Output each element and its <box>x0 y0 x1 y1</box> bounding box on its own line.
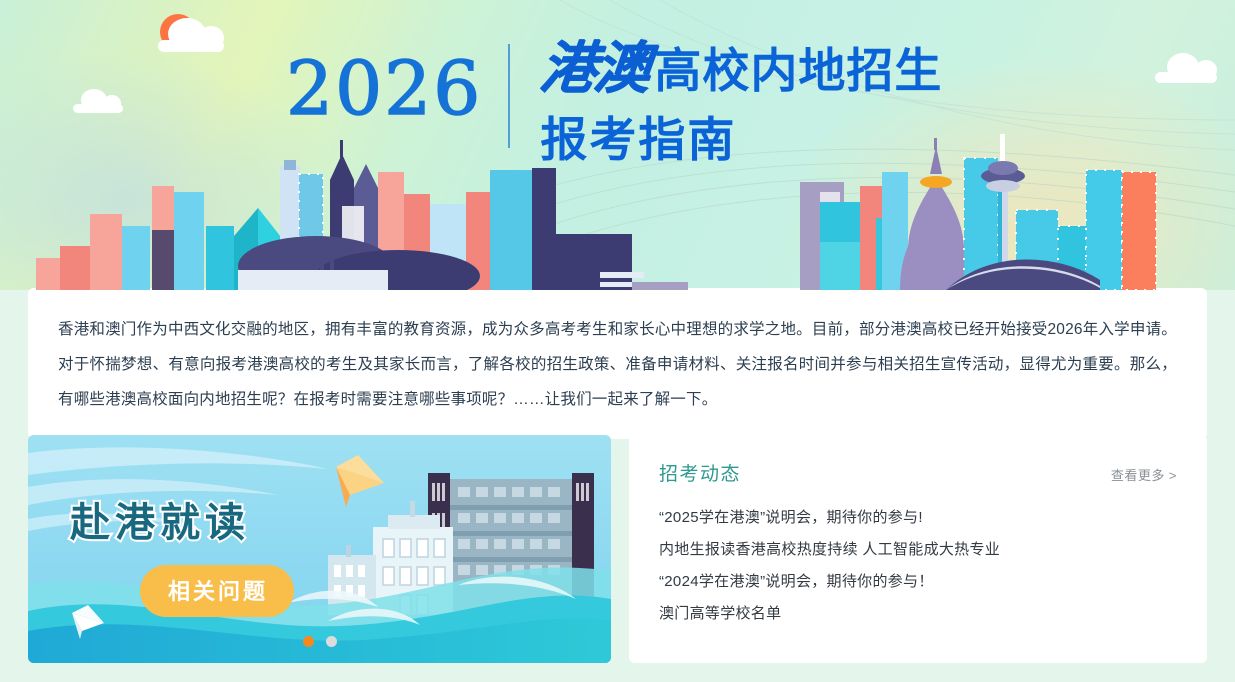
carousel-dot-1[interactable] <box>303 636 314 647</box>
promo-carousel[interactable]: 赴港就读 相关问题 <box>28 435 611 663</box>
news-panel-title: 招考动态 <box>659 459 741 486</box>
carousel-dots[interactable] <box>28 636 611 647</box>
news-panel: 招考动态 查看更多> “2025学在港澳”说明会，期待你的参与! 内地生报读香港… <box>629 435 1207 663</box>
news-list: “2025学在港澳”说明会，期待你的参与! 内地生报读香港高校热度持续 人工智能… <box>659 502 1177 630</box>
banner-brush-text: 港澳 <box>537 40 651 96</box>
carousel-dot-2[interactable] <box>326 636 337 647</box>
list-item[interactable]: 内地生报读香港高校热度持续 人工智能成大热专业 <box>659 534 1177 566</box>
banner-year: 2026 <box>286 38 508 126</box>
chevron-right-icon: > <box>1169 468 1177 483</box>
lower-section: 赴港就读 相关问题 招考动态 查看更多> “2025学在港澳”说明会，期待你的参… <box>28 435 1207 663</box>
banner-title-main: 高校内地招生 <box>654 47 942 94</box>
list-item[interactable]: “2025学在港澳”说明会，期待你的参与! <box>659 502 1177 534</box>
related-questions-button[interactable]: 相关问题 <box>140 565 294 617</box>
list-item[interactable]: “2024学在港澳”说明会，期待你的参与！ <box>659 566 1177 598</box>
cloud-icon <box>158 40 224 52</box>
header-banner: 2026 港澳 高校内地招生 报考指南 <box>0 0 1235 290</box>
title-divider <box>508 44 510 148</box>
cloud-icon <box>73 104 123 113</box>
view-more-label: 查看更多 <box>1111 468 1165 483</box>
carousel-illustration <box>28 435 611 663</box>
carousel-slide-title: 赴港就读 <box>70 490 250 548</box>
banner-title-sub: 报考指南 <box>540 116 942 163</box>
banner-title-block: 2026 港澳 高校内地招生 报考指南 <box>286 38 942 163</box>
intro-paragraph: 香港和澳门作为中西文化交融的地区，拥有丰富的教育资源，成为众多高考考生和家长心中… <box>58 312 1177 417</box>
cloud-icon <box>1155 72 1217 83</box>
intro-card: 香港和澳门作为中西文化交融的地区，拥有丰富的教育资源，成为众多高考考生和家长心中… <box>28 288 1207 439</box>
news-panel-header: 招考动态 查看更多> <box>659 459 1177 486</box>
view-more-link[interactable]: 查看更多> <box>1111 465 1177 484</box>
list-item[interactable]: 澳门高等学校名单 <box>659 598 1177 630</box>
